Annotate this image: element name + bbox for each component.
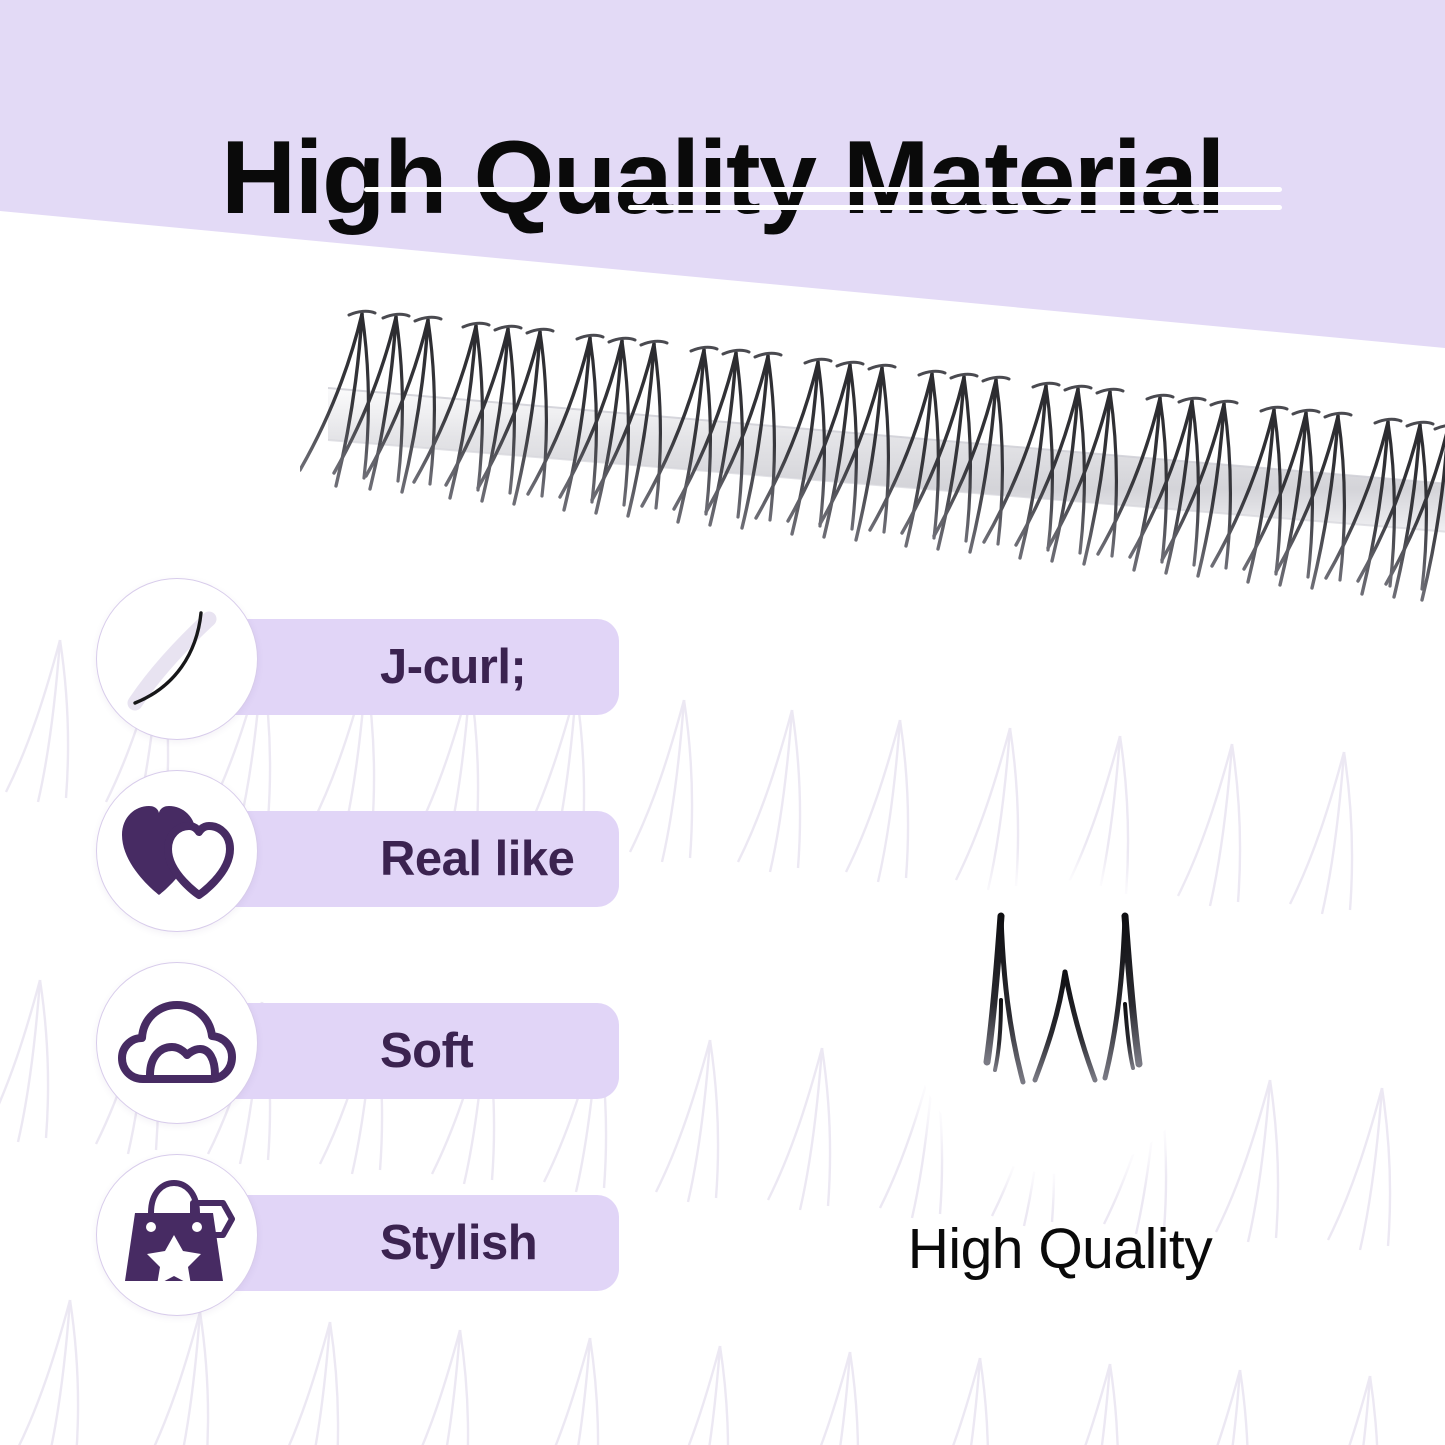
page-title: High Quality Material bbox=[0, 126, 1445, 230]
cloud-icon bbox=[117, 997, 237, 1089]
feature-label: Soft bbox=[380, 1023, 473, 1079]
shopping-bag-star-icon bbox=[119, 1177, 235, 1293]
feature-label: Real like bbox=[380, 831, 574, 887]
quality-caption: High Quality bbox=[890, 1216, 1230, 1282]
lash-fiber-magnified-icon bbox=[913, 880, 1207, 1174]
feature-label: Stylish bbox=[380, 1215, 537, 1271]
quality-zoom-circle bbox=[913, 880, 1207, 1174]
feature-icon-circle bbox=[96, 1154, 258, 1316]
j-curl-lash-icon bbox=[97, 579, 257, 739]
double-heart-icon bbox=[118, 799, 236, 903]
feature-icon-circle bbox=[96, 578, 258, 740]
feature-label: J-curl; bbox=[380, 639, 526, 695]
feature-icon-circle bbox=[96, 962, 258, 1124]
title-divider-long bbox=[364, 187, 1282, 192]
feature-icon-circle bbox=[96, 770, 258, 932]
product-infographic: High Quality Material J-curl; Real like bbox=[0, 0, 1445, 1445]
high-quality-callout: High Quality bbox=[890, 880, 1230, 1282]
title-divider-short bbox=[628, 205, 1282, 210]
